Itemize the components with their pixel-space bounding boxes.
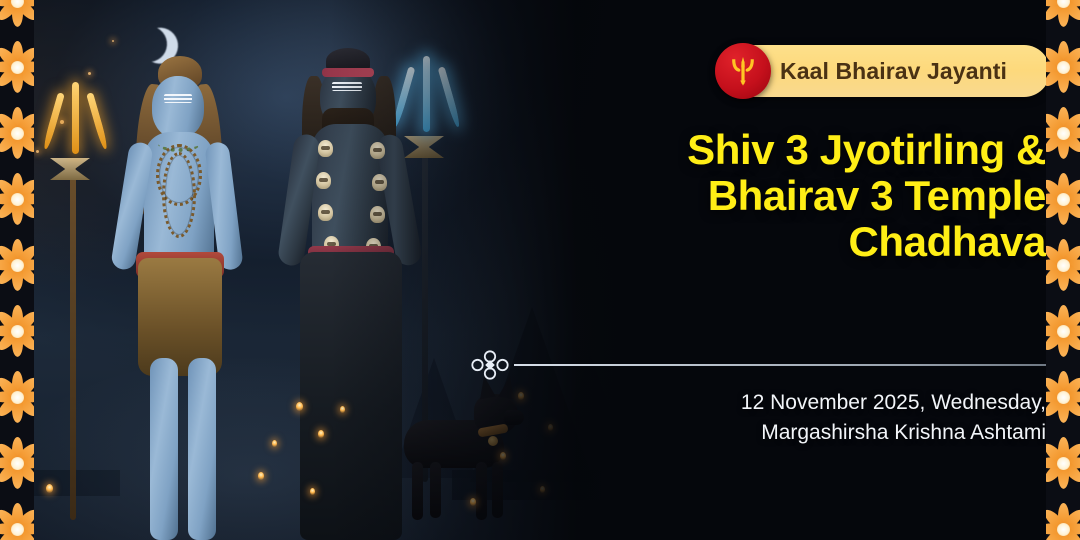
trishul-prong-center: [72, 82, 79, 154]
trishul-prong-center: [423, 56, 430, 132]
ember-spark: [88, 72, 91, 75]
flower-center: [1057, 61, 1070, 74]
flower-center: [1057, 0, 1070, 8]
flower-motif-icon: [0, 436, 34, 490]
flower-center: [11, 523, 24, 536]
damaru-icon: [404, 136, 444, 158]
event-date-line-2: Margashirsha Krishna Ashtami: [590, 418, 1046, 448]
diya-lamp-icon: [540, 486, 545, 493]
divider: [468, 348, 1080, 382]
content-panel: Kaal Bhairav Jayanti Shiv 3 Jyotirling &…: [590, 0, 1046, 540]
flower-motif-icon: [1046, 106, 1080, 160]
black-dog-figure: [404, 376, 522, 526]
diya-lamp-icon: [518, 392, 524, 400]
event-date: 12 November 2025, Wednesday, Margashirsh…: [590, 388, 1046, 448]
shiva-leg-left: [150, 358, 178, 540]
flower-center: [11, 457, 24, 470]
festival-badge[interactable]: Kaal Bhairav Jayanti: [718, 45, 1050, 97]
flower-center: [1057, 391, 1070, 404]
flower-center: [11, 325, 24, 338]
tripundra-tilak-icon: [164, 94, 192, 103]
flower-center: [1057, 259, 1070, 272]
diya-lamp-icon: [296, 402, 303, 411]
diya-lamp-icon: [500, 452, 506, 460]
dog-leg: [430, 462, 441, 518]
diya-lamp-icon: [258, 472, 264, 480]
dog-tag-icon: [488, 436, 498, 446]
shiva-leg-right: [188, 358, 216, 540]
flower-center: [11, 0, 24, 8]
flower-motif-icon: [1046, 436, 1080, 490]
shiva-figure: [96, 40, 286, 540]
ornamental-border-right: [1046, 0, 1080, 540]
bhairav-headband: [322, 68, 374, 77]
trishul-icon: [715, 43, 771, 99]
headline-line-3: Chadhava: [687, 219, 1046, 265]
flower-center: [11, 391, 24, 404]
tripundra-tilak-icon: [332, 82, 362, 91]
flower-motif-icon: [1046, 370, 1080, 424]
trishul-prong-right: [86, 92, 109, 150]
ornamental-border-left: [0, 0, 34, 540]
flower-motif-icon: [0, 238, 34, 292]
flower-motif-icon: [0, 40, 34, 94]
bhairav-robe: [300, 252, 402, 540]
flower-motif-icon: [1046, 40, 1080, 94]
dog-leg: [412, 462, 423, 520]
flower-motif-icon: [1046, 238, 1080, 292]
festival-banner: Kaal Bhairav Jayanti Shiv 3 Jyotirling &…: [0, 0, 1080, 540]
festival-badge-label: Kaal Bhairav Jayanti: [780, 58, 1007, 85]
diya-lamp-icon: [340, 406, 345, 413]
flower-motif-icon: [1046, 172, 1080, 226]
flower-motif-icon: [1046, 304, 1080, 358]
flower-motif-icon: [1046, 0, 1080, 28]
flower-center: [11, 259, 24, 272]
dog-leg: [476, 462, 487, 520]
flower-motif-icon: [0, 370, 34, 424]
shiva-head: [152, 76, 204, 138]
flower-motif-icon: [0, 502, 34, 540]
diya-lamp-icon: [310, 488, 315, 495]
dog-leg: [492, 462, 503, 518]
flower-center: [11, 193, 24, 206]
flower-center: [1057, 193, 1070, 206]
flower-center: [1057, 523, 1070, 536]
damaru-icon: [50, 158, 90, 180]
trishul-prong-right: [438, 66, 462, 128]
ember-spark: [60, 120, 64, 124]
flower-center: [1057, 457, 1070, 470]
diya-lamp-icon: [548, 424, 553, 431]
flower-motif-icon: [0, 0, 34, 28]
diya-lamp-icon: [318, 430, 324, 438]
headline-line-1: Shiv 3 Jyotirling &: [687, 127, 1046, 173]
artwork-panel: [0, 0, 620, 540]
page-title: Shiv 3 Jyotirling & Bhairav 3 Temple Cha…: [687, 127, 1046, 264]
shiva-trishul-staff: [70, 160, 76, 520]
flower-center: [1057, 127, 1070, 140]
divider-line: [514, 364, 1080, 366]
ember-spark: [36, 150, 39, 153]
event-date-line-1: 12 November 2025, Wednesday,: [590, 388, 1046, 418]
diya-lamp-icon: [272, 440, 277, 447]
headline-line-2: Bhairav 3 Temple: [687, 173, 1046, 219]
flower-motif-icon: [1046, 502, 1080, 540]
flower-motif-icon: [0, 106, 34, 160]
diamond-knot-ornament-icon: [468, 348, 512, 382]
flower-motif-icon: [0, 172, 34, 226]
rudraksha-mala-icon: [162, 152, 196, 238]
flower-center: [11, 127, 24, 140]
flower-motif-icon: [0, 304, 34, 358]
flower-center: [1057, 325, 1070, 338]
diya-lamp-icon: [470, 498, 476, 506]
diya-lamp-icon: [46, 484, 53, 493]
dog-snout: [504, 410, 524, 425]
flower-center: [11, 61, 24, 74]
